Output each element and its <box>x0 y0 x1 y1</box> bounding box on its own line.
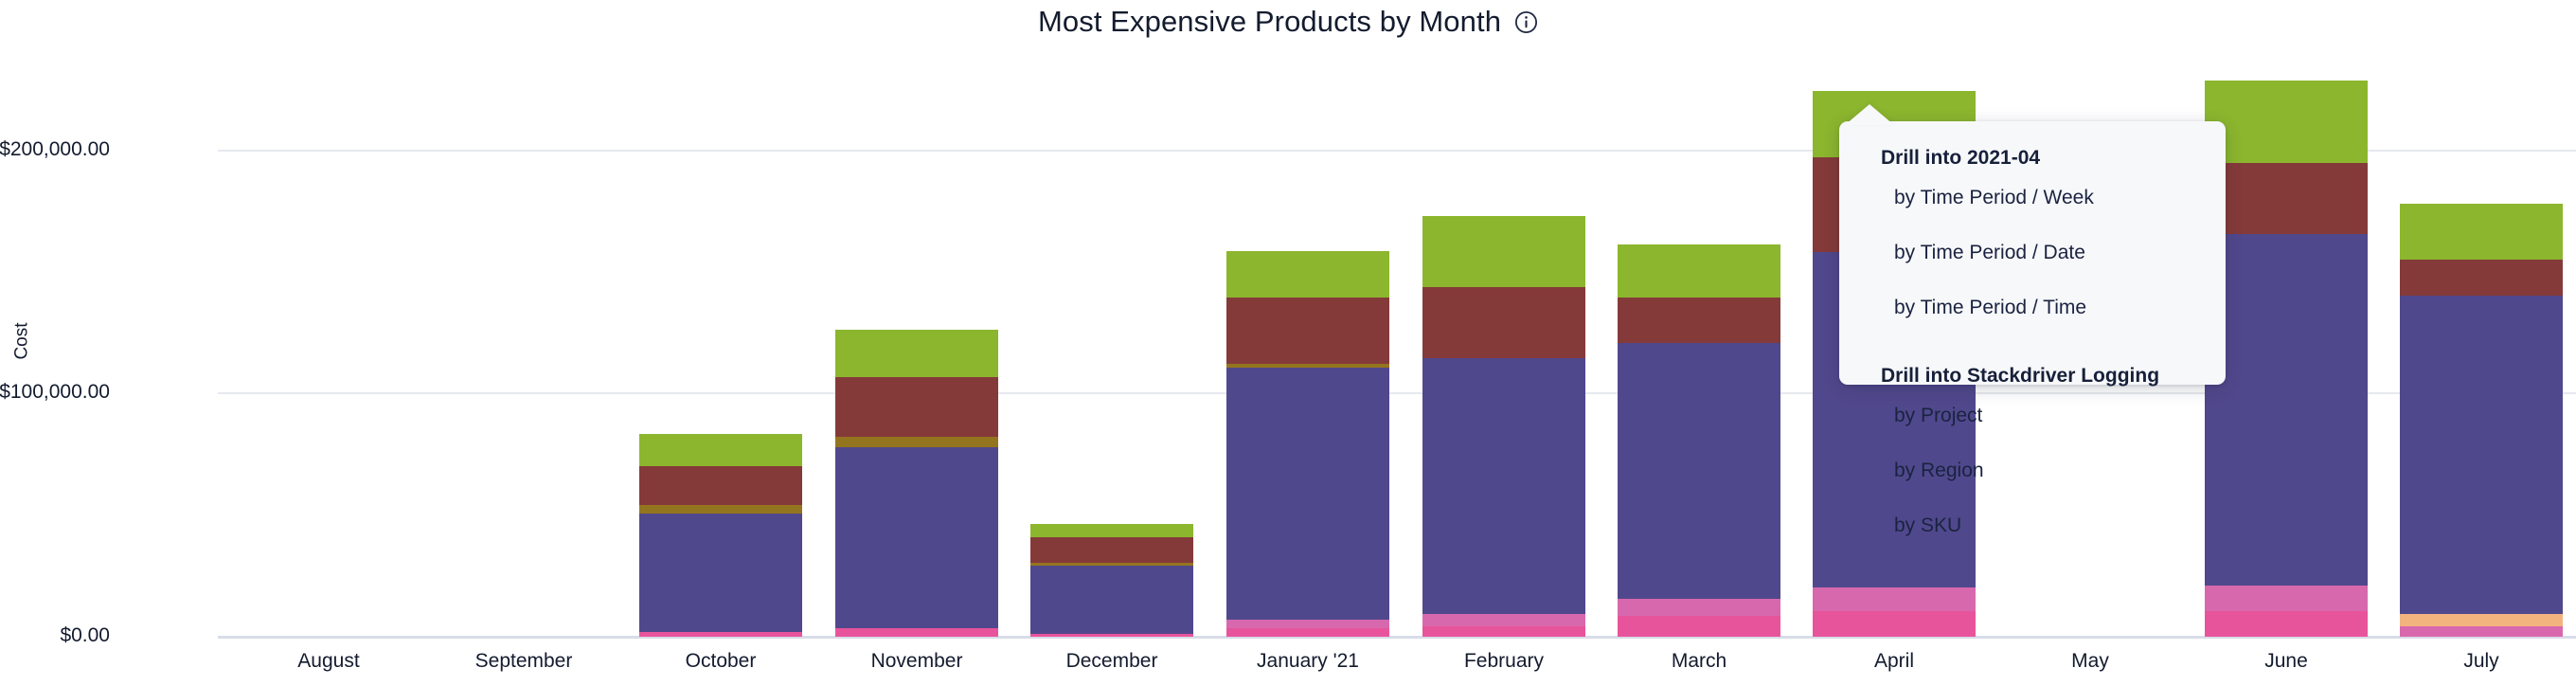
bar-december[interactable] <box>1030 524 1193 637</box>
bar-segment[interactable] <box>1226 620 1389 628</box>
bar-segment[interactable] <box>1422 614 1585 626</box>
bar-segment[interactable] <box>1618 298 1780 343</box>
bar-segment[interactable] <box>835 447 998 628</box>
bar-segment[interactable] <box>639 632 802 637</box>
bar-february[interactable] <box>1422 216 1585 637</box>
bar-segment[interactable] <box>2400 626 2563 637</box>
bar-segment[interactable] <box>2400 614 2563 626</box>
bar-segment[interactable] <box>1226 368 1389 620</box>
x-tick-february: February <box>1464 650 1544 673</box>
menu-item-by-time-period-date[interactable]: by Time Period / Date <box>1839 226 2226 280</box>
bar-segment[interactable] <box>1618 244 1780 298</box>
bar-segment[interactable] <box>2205 163 2368 234</box>
bar-segment[interactable] <box>1226 298 1389 364</box>
bar-segment[interactable] <box>639 505 802 514</box>
bar-segment[interactable] <box>835 330 998 377</box>
popup-section-title-time-period: Drill into 2021-04 <box>1839 121 2226 171</box>
bar-january-21[interactable] <box>1226 251 1389 637</box>
menu-item-by-time-period-week[interactable]: by Time Period / Week <box>1839 171 2226 226</box>
x-tick-october: October <box>686 650 757 673</box>
bar-segment[interactable] <box>1422 358 1585 614</box>
bar-segment[interactable] <box>1030 537 1193 563</box>
bar-segment[interactable] <box>1030 634 1193 637</box>
bar-october[interactable] <box>639 434 802 637</box>
bar-segment[interactable] <box>639 466 802 505</box>
x-tick-january-21: January '21 <box>1257 650 1359 673</box>
x-tick-august: August <box>297 650 359 673</box>
bar-segment[interactable] <box>835 628 998 637</box>
bar-july[interactable] <box>2400 204 2563 637</box>
bar-segment[interactable] <box>1226 251 1389 298</box>
drill-into-popup: Drill into 2021-04 by Time Period / Week… <box>1839 121 2226 385</box>
bar-segment[interactable] <box>1422 287 1585 358</box>
x-tick-may: May <box>2071 650 2109 673</box>
popup-section-title-stackdriver: Drill into Stackdriver Logging <box>1839 335 2226 388</box>
x-tick-november: November <box>871 650 963 673</box>
bar-march[interactable] <box>1618 244 1780 637</box>
bar-segment[interactable] <box>1226 628 1389 637</box>
bar-segment[interactable] <box>1422 626 1585 637</box>
menu-item-by-sku[interactable]: by SKU <box>1839 498 2226 553</box>
menu-item-by-time-period-time[interactable]: by Time Period / Time <box>1839 280 2226 335</box>
x-tick-september: September <box>475 650 573 673</box>
x-tick-april: April <box>1874 650 1914 673</box>
bar-segment[interactable] <box>1618 616 1780 637</box>
chart-page: Most Expensive Products by Month Cost $2… <box>0 0 2576 686</box>
bar-segment[interactable] <box>2400 296 2563 614</box>
bar-segment[interactable] <box>2205 234 2368 586</box>
x-tick-july: July <box>2463 650 2498 673</box>
bar-segment[interactable] <box>2205 611 2368 637</box>
bar-segment[interactable] <box>2205 81 2368 163</box>
popup-pointer-arrow <box>1845 104 1894 125</box>
menu-item-by-project[interactable]: by Project <box>1839 388 2226 443</box>
bar-segment[interactable] <box>1618 343 1780 599</box>
x-tick-june: June <box>2264 650 2308 673</box>
bar-segment[interactable] <box>835 437 998 447</box>
bar-segment[interactable] <box>835 377 998 437</box>
bar-segment[interactable] <box>2400 204 2563 260</box>
bar-segment[interactable] <box>1030 566 1193 634</box>
bar-segment[interactable] <box>2400 260 2563 296</box>
bar-segment[interactable] <box>1422 216 1585 287</box>
menu-item-by-region[interactable]: by Region <box>1839 443 2226 498</box>
x-tick-december: December <box>1066 650 1158 673</box>
bar-segment[interactable] <box>639 434 802 466</box>
bar-segment[interactable] <box>2205 586 2368 611</box>
bar-segment[interactable] <box>1030 524 1193 537</box>
bar-june[interactable] <box>2205 81 2368 637</box>
bar-november[interactable] <box>835 330 998 637</box>
bar-segment[interactable] <box>1813 611 1976 637</box>
bar-segment[interactable] <box>639 514 802 632</box>
x-tick-march: March <box>1672 650 1726 673</box>
bar-segment[interactable] <box>1618 599 1780 616</box>
bar-segment[interactable] <box>1813 587 1976 611</box>
